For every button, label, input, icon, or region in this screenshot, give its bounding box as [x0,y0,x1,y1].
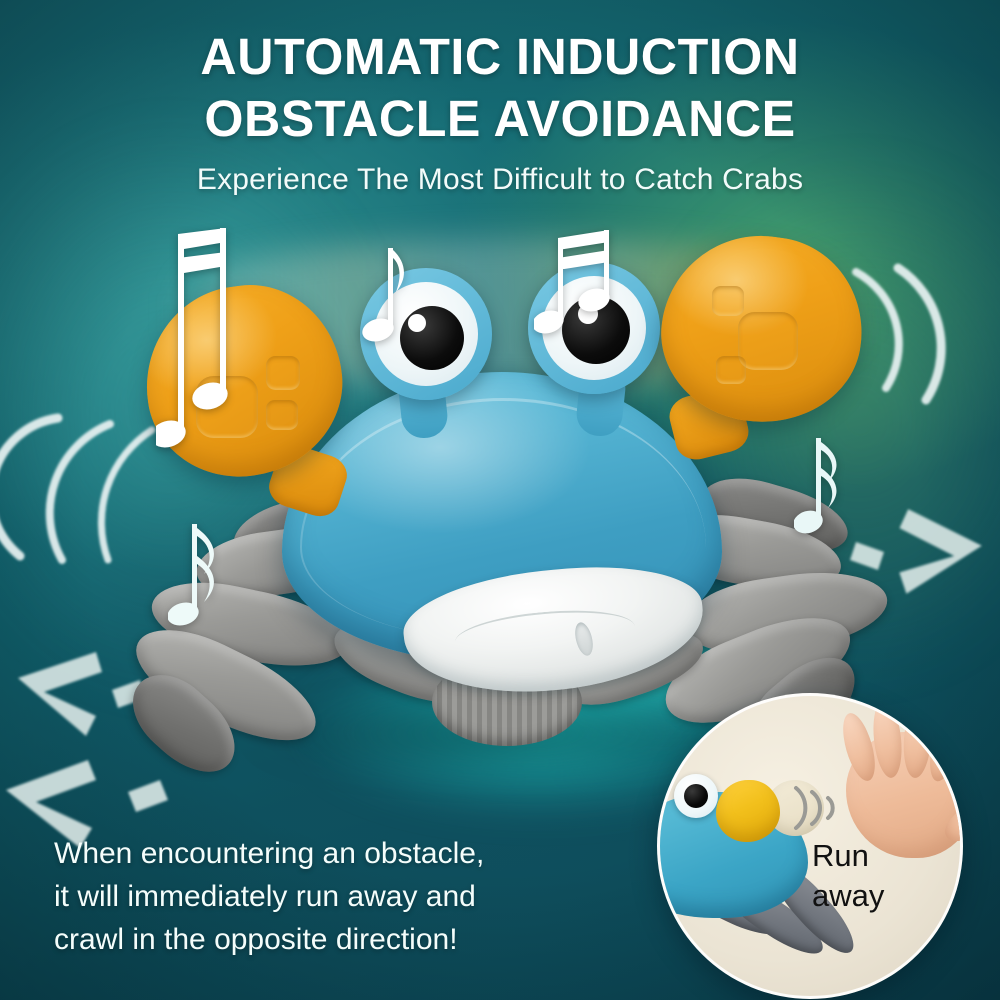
music-note-single-center-left [362,244,410,348]
inset-sensor-waves [788,772,844,844]
inset-run-away-label: Run away [812,836,884,915]
inset-label-line-2: away [812,876,884,916]
music-note-sixteenth-lower-left [168,520,234,638]
caption-line-3: crawl in the opposite direction! [54,919,654,962]
inset-crab-eye-pupil [684,784,708,808]
caption-line-2: it will immediately run away and [54,876,654,919]
crab-claw-right-panel-main [738,312,798,370]
inset-label-line-1: Run [812,836,884,876]
music-note-beamed-center [534,224,614,354]
crab-claw-right-panel-top [712,286,744,316]
product-ad-image: AUTOMATIC INDUCTION OBSTACLE AVOIDANCE E… [0,0,1000,1000]
music-note-beamed-left [156,228,234,458]
crab-eye-left-glint [408,314,426,332]
caption-line-1: When encountering an obstacle, [54,833,654,876]
music-note-sixteenth-right [794,434,854,544]
crab-claw-left-panel-bottom [266,400,298,430]
crab-claw-left-panel-top [266,356,300,390]
crab-claw-right-panel-bottom [716,356,746,384]
inset-crab-claw-near [716,780,780,842]
caption-text: When encountering an obstacle, it will i… [54,833,654,962]
inset-demo-circle: Run away [657,693,963,999]
